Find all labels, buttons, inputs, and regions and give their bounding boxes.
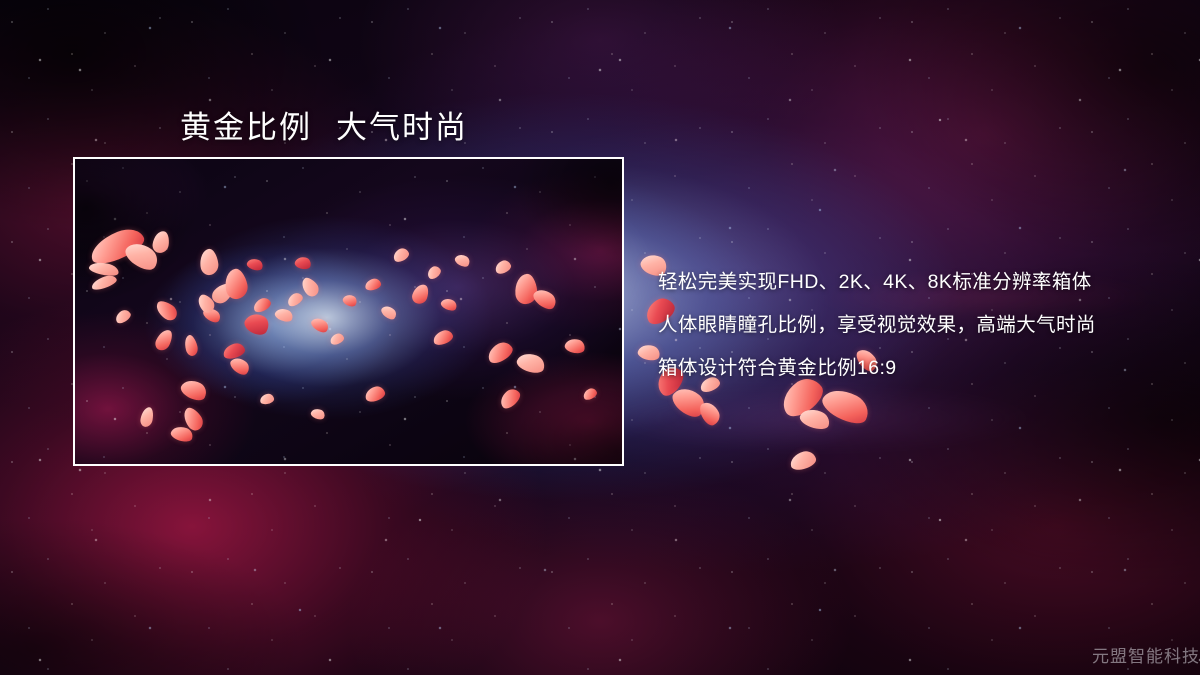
body-copy: 轻松完美实现FHD、2K、4K、8K标准分辨率箱体 人体眼睛瞳孔比例，享受视觉效…: [658, 261, 1096, 390]
page-title: 黄金比例大气时尚: [180, 102, 468, 147]
slide-canvas: 黄金比例大气时尚 轻松完美实现FHD、2K、4K、8K标准分辨率箱体 人体眼睛瞳…: [0, 0, 1200, 675]
body-line: 人体眼睛瞳孔比例，享受视觉效果，高端大气时尚: [658, 304, 1096, 347]
body-line: 轻松完美实现FHD、2K、4K、8K标准分辨率箱体: [658, 261, 1096, 304]
body-line: 箱体设计符合黄金比例16:9: [658, 347, 1096, 390]
framed-image-content: [75, 159, 622, 464]
watermark: 元盟智能科技: [1092, 642, 1200, 667]
headline-part2: 大气时尚: [336, 110, 468, 145]
headline-part1: 黄金比例: [180, 110, 312, 145]
framed-vignette: [75, 159, 622, 464]
framed-image: [73, 157, 624, 466]
